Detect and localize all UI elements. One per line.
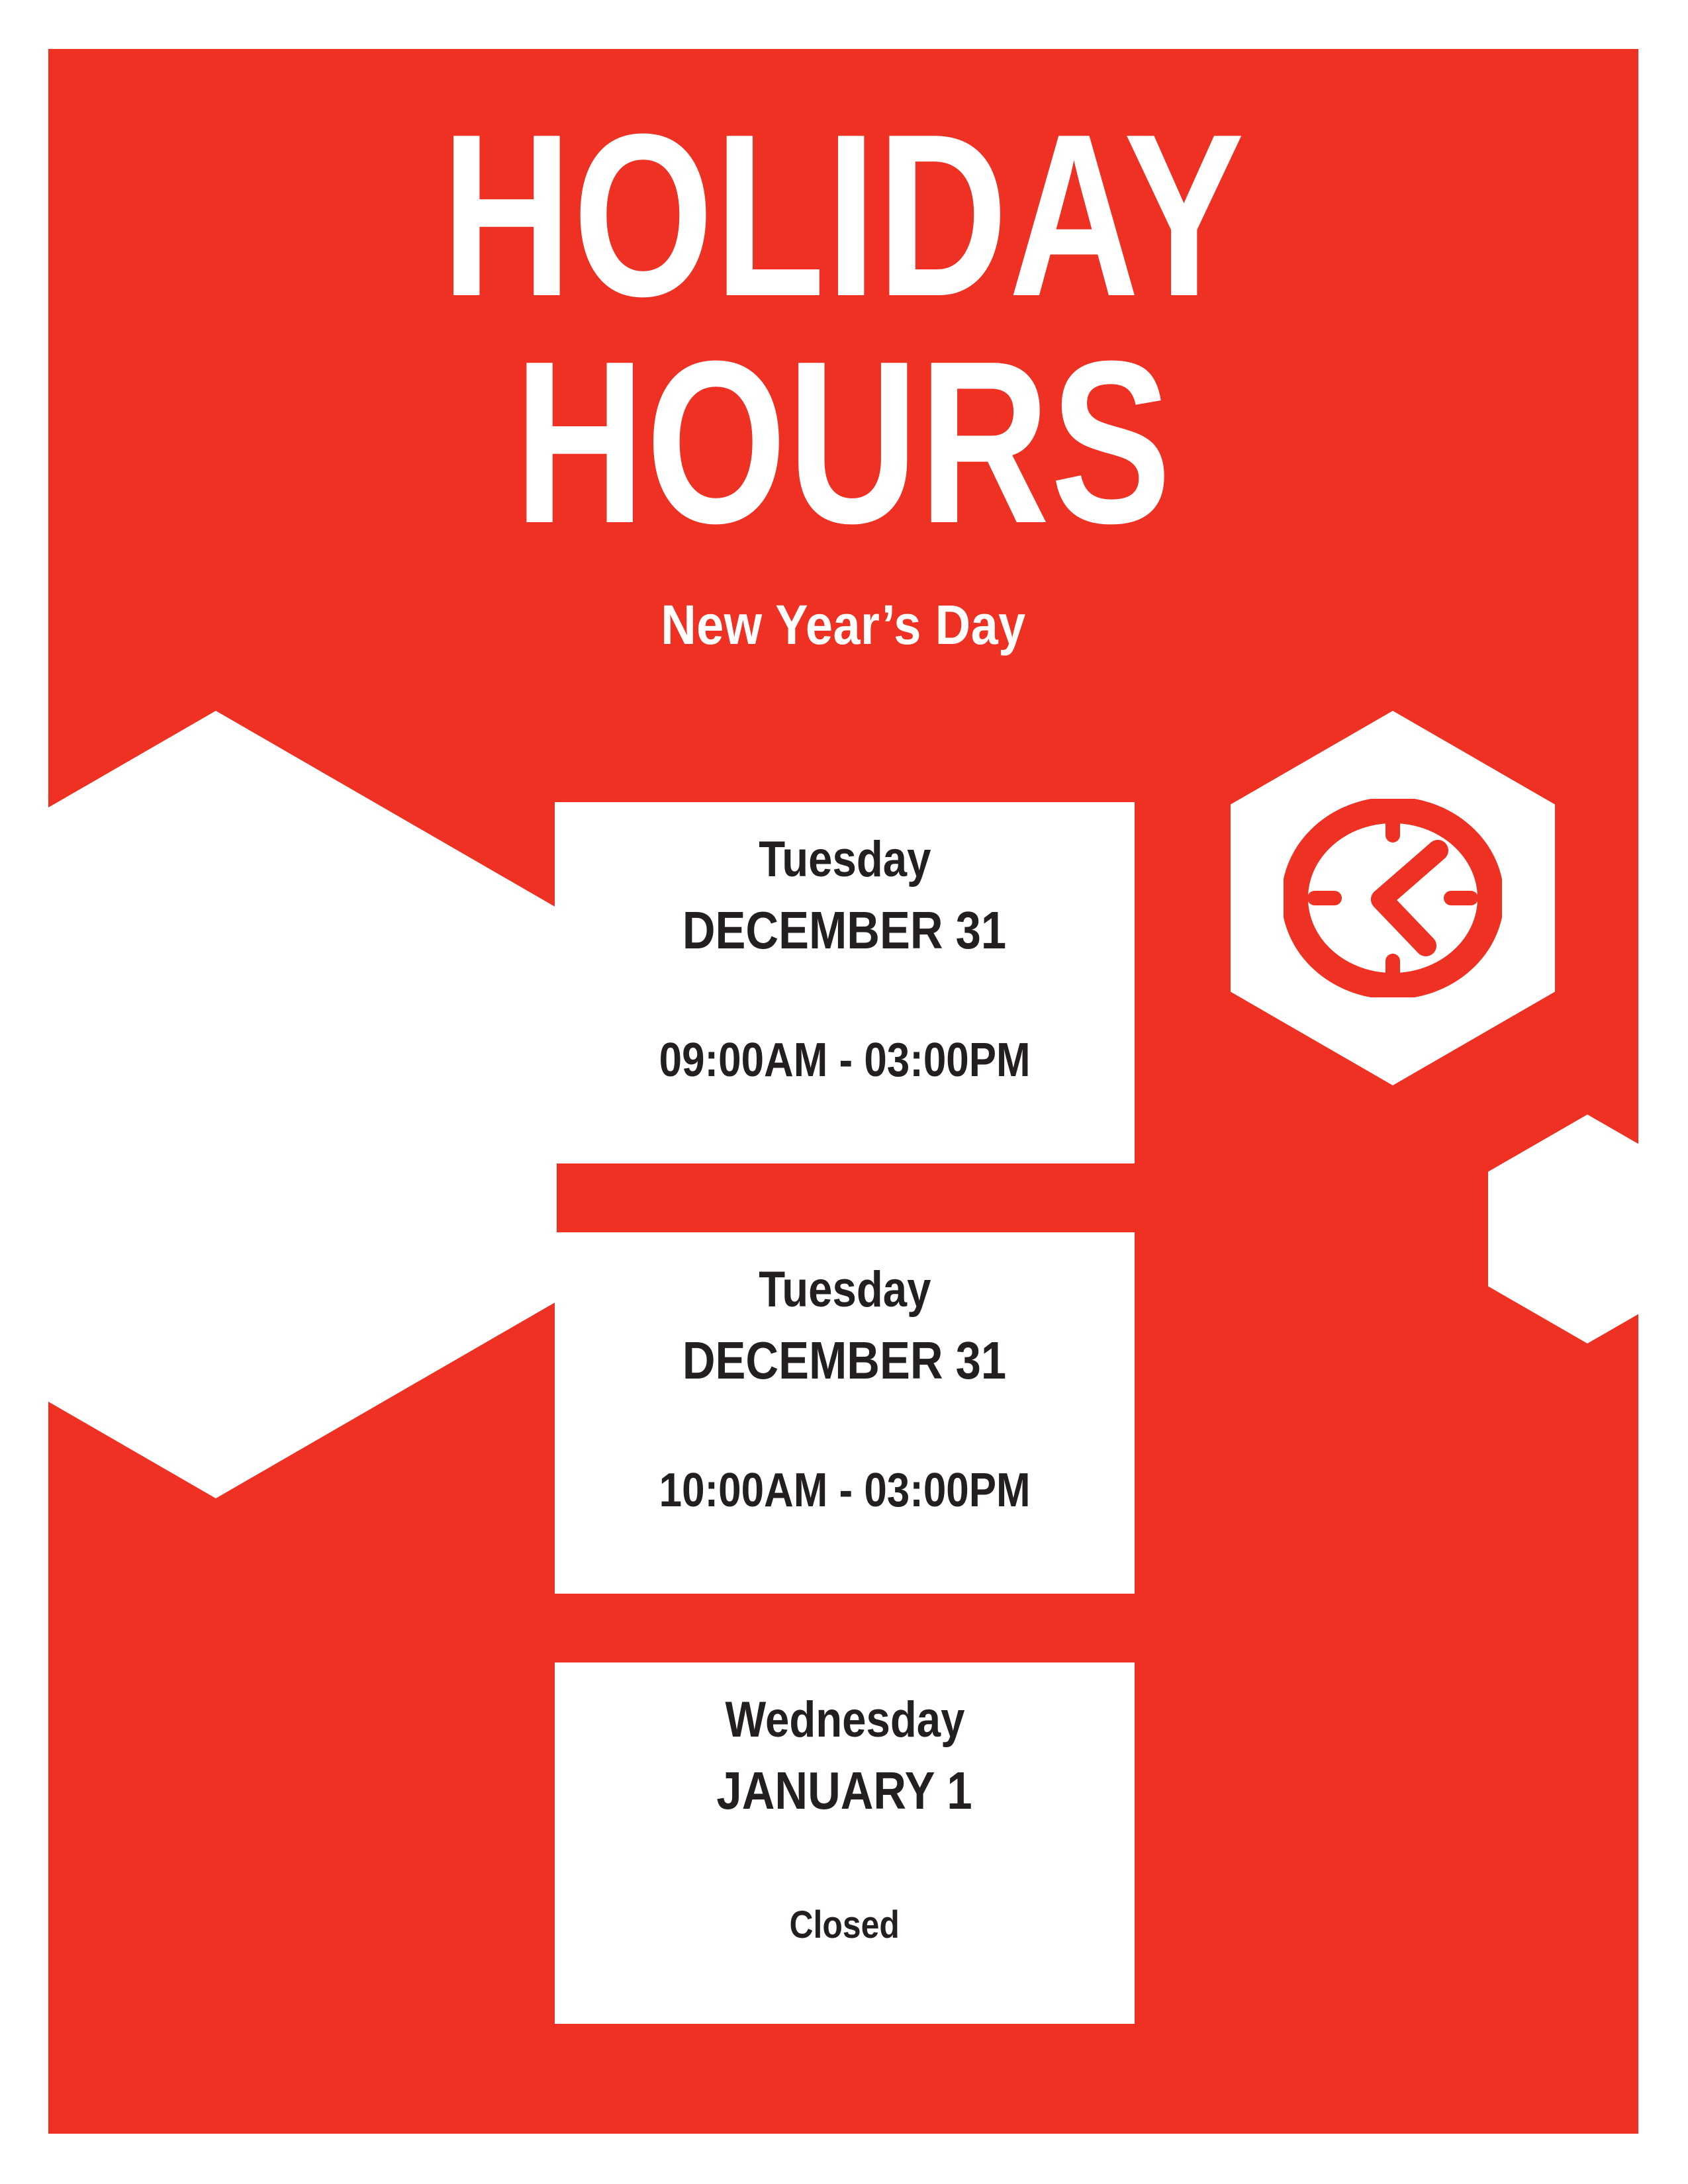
schedule-card: Tuesday DECEMBER 31 10:00AM - 03:00PM bbox=[555, 1232, 1135, 1594]
poster-red-panel: HOLIDAY HOURS New Year’s Day Tuesday DEC… bbox=[48, 49, 1638, 2134]
schedule-card-list: Tuesday DECEMBER 31 09:00AM - 03:00PM Tu… bbox=[555, 802, 1135, 2024]
schedule-card-date: JANUARY 1 bbox=[717, 1761, 972, 1821]
schedule-card-weekday: Tuesday bbox=[759, 1261, 931, 1318]
schedule-card-hours: 09:00AM - 03:00PM bbox=[659, 1034, 1031, 1087]
schedule-card-date: DECEMBER 31 bbox=[682, 1331, 1006, 1390]
page-title-line-2: HOURS bbox=[223, 329, 1464, 556]
poster-headline: HOLIDAY HOURS New Year’s Day bbox=[48, 102, 1638, 653]
schedule-card-hours: 10:00AM - 03:00PM bbox=[659, 1465, 1031, 1517]
schedule-card: Wednesday JANUARY 1 Closed bbox=[555, 1662, 1135, 2024]
hexagon-large-bottom-left-decoration bbox=[48, 711, 557, 1498]
page-subtitle: New Year’s Day bbox=[144, 597, 1543, 653]
holiday-hours-poster: HOLIDAY HOURS New Year’s Day Tuesday DEC… bbox=[0, 0, 1688, 2184]
clock-dial-icon bbox=[1284, 799, 1502, 997]
hexagon-small-right-decoration bbox=[1488, 1115, 1638, 1343]
schedule-card-weekday: Tuesday bbox=[759, 831, 931, 887]
page-title-line-1: HOLIDAY bbox=[223, 102, 1464, 329]
schedule-card-hours: Closed bbox=[790, 1904, 900, 1946]
clock-icon bbox=[1231, 711, 1555, 1085]
schedule-card-weekday: Wednesday bbox=[725, 1692, 964, 1748]
schedule-card: Tuesday DECEMBER 31 09:00AM - 03:00PM bbox=[555, 802, 1135, 1163]
schedule-card-date: DECEMBER 31 bbox=[682, 901, 1006, 960]
